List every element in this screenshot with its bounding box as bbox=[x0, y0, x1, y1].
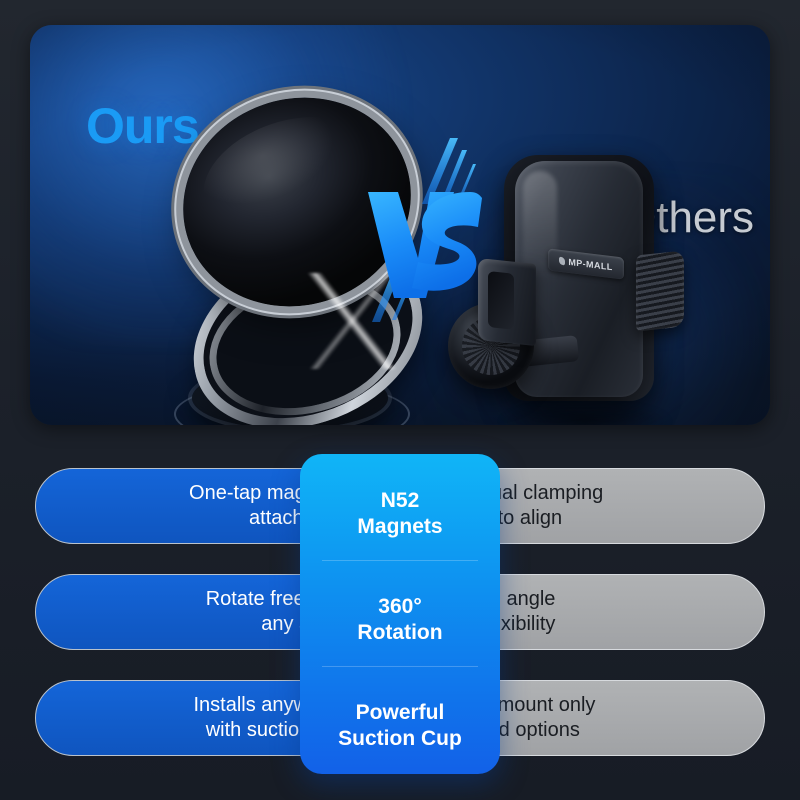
vs-badge-icon bbox=[358, 130, 488, 325]
feature-cell-3: Powerful Suction Cup bbox=[300, 680, 500, 772]
feature-cell-1-line2: Magnets bbox=[357, 514, 442, 540]
comparison-table: N52 Magnets 360° Rotation Powerful Sucti… bbox=[0, 432, 800, 800]
feature-cell-3-line1: Powerful bbox=[356, 700, 445, 726]
feature-cell-1: N52 Magnets bbox=[300, 468, 500, 560]
feature-divider bbox=[322, 666, 478, 667]
hero-product-panel: Ours MP-MALL Others bbox=[30, 25, 770, 425]
competitor-brand-label: MP-MALL bbox=[568, 257, 612, 272]
feature-cell-1-line1: N52 bbox=[381, 488, 420, 514]
competitor-shadow bbox=[470, 399, 700, 425]
feature-highlight-card: N52 Magnets 360° Rotation Powerful Sucti… bbox=[300, 454, 500, 774]
brand-mark-icon bbox=[559, 257, 565, 266]
feature-cell-2: 360° Rotation bbox=[300, 574, 500, 666]
feature-cell-3-line2: Suction Cup bbox=[338, 726, 462, 752]
promo-comparison-page: Ours MP-MALL Others bbox=[0, 0, 800, 800]
vs-badge bbox=[358, 130, 488, 325]
feature-cell-2-line1: 360° bbox=[378, 594, 421, 620]
feature-divider bbox=[322, 560, 478, 561]
feature-cell-2-line2: Rotation bbox=[357, 620, 442, 646]
clamp-grip-right-icon bbox=[636, 250, 684, 331]
